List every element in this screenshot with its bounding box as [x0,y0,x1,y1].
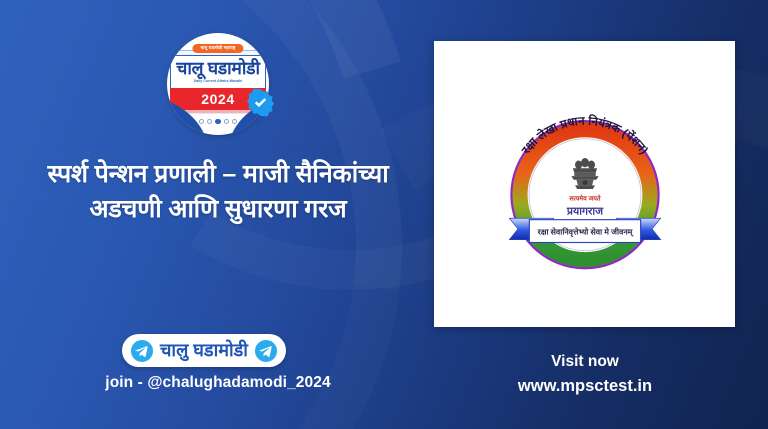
brand-badge-dot [224,119,229,124]
brand-badge-year-label: 2024 [201,92,235,106]
emblem-ribbon-text: रक्षा सेवानिवृत्तेभ्यो सेवा मे जीवनम् [536,227,634,238]
brand-badge-dot [199,119,204,124]
pcda-pensions-prayagraj-emblem: रक्षा लेखा प्रधान नियंत्रक (पेंशन) सत्यम… [478,98,692,270]
brand-badge-dot [232,119,237,124]
emblem-city-text: प्रयागराज [565,206,603,218]
brand-badge-circle: चालू घडामोडी महाराष्ट्र चालू घडामोडी Dai… [167,33,269,135]
brand-badge-tagline: चालू घडामोडी महाराष्ट्र [192,44,243,53]
thumbnail-canvas: चालू घडामोडी महाराष्ट्र चालू घडामोडी Dai… [0,0,768,429]
brand-badge: चालू घडामोडी महाराष्ट्र चालू घडामोडी Dai… [167,33,269,135]
emblem-motto-text: सत्यमेव जयते [568,194,601,202]
telegram-pill-label: चालु घडामोडी [160,341,248,361]
brand-badge-dot [207,119,212,124]
article-image-panel: रक्षा लेखा प्रधान नियंत्रक (पेंशन) सत्यम… [434,41,735,327]
brand-badge-dot-active [215,119,220,124]
visit-label: Visit now [455,350,715,374]
page-title: स्पर्श पेन्शन प्रणाली – माजी सैनिकांच्या… [22,157,414,226]
visit-url[interactable]: www.mpsctest.in [455,374,715,400]
telegram-icon [130,339,154,363]
telegram-join-handle: join - @chalughadamodi_2024 [22,374,414,392]
telegram-channel-badge[interactable]: चालु घडामोडी [122,334,286,367]
brand-badge-dots [167,119,269,124]
verified-check-icon [246,88,275,117]
brand-badge-subtitle: Daily Current Affairs Marathi [167,80,269,84]
brand-badge-title: चालू घडामोडी [167,60,269,78]
visit-cta: Visit now www.mpsctest.in [455,350,715,400]
telegram-icon [254,339,278,363]
